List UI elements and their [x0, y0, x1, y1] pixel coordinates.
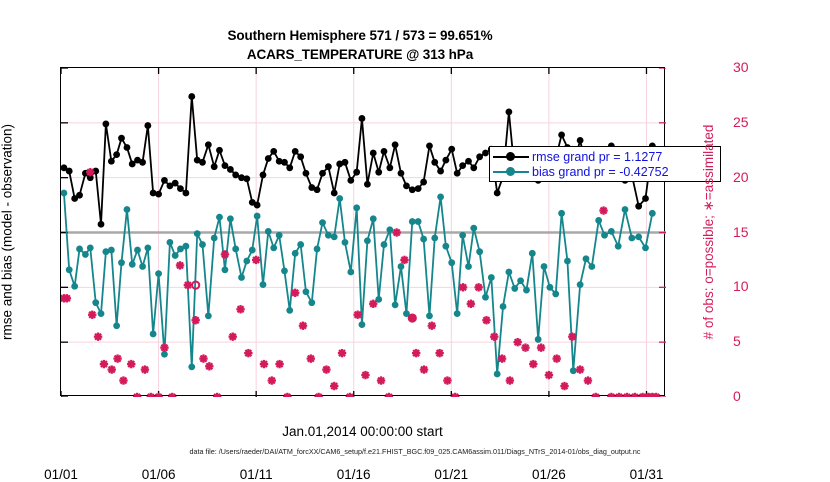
plot-area: 3 2 1 0 -1 -2 -3 30 25 20 15 10 5 0 01/0… [60, 67, 665, 396]
y-tick-right-0: 0 [733, 388, 773, 404]
y-axis-label-right: # of obs: o=possible; ∗=assimilated [700, 67, 718, 396]
chart-title-line2: ACARS_TEMPERATURE @ 313 hPa [0, 45, 720, 64]
legend-item-rmse[interactable]: rmse grand pr = 1.1277 [493, 149, 717, 164]
y-tick-right-15: 15 [733, 224, 773, 240]
x-axis-label: Jan.01,2014 00:00:00 start [60, 424, 665, 439]
x-tick-0121: 01/21 [411, 467, 491, 482]
y-axis-label-left-text: rmse and bias (model - observation) [0, 123, 15, 339]
y-axis-label-right-text: # of obs: o=possible; ∗=assimilated [701, 124, 717, 339]
y-tick-right-10: 10 [733, 278, 773, 294]
chart-svg [61, 68, 666, 397]
y-axis-label-left: rmse and bias (model - observation) [0, 67, 16, 396]
legend-label-bias: bias grand pr = -0.42752 [532, 165, 669, 179]
y-tick-right-5: 5 [733, 333, 773, 349]
plot-canvas [61, 68, 664, 395]
legend-item-bias[interactable]: bias grand pr = -0.42752 [493, 164, 717, 179]
chart-legend: rmse grand pr = 1.1277 bias grand pr = -… [489, 146, 721, 182]
x-tick-0101: 01/01 [21, 467, 101, 482]
x-tick-0116: 01/16 [314, 467, 394, 482]
chart-title-block: Southern Hemisphere 571 / 573 = 99.651% … [0, 26, 720, 64]
x-tick-0126: 01/26 [509, 467, 589, 482]
chart-title-line1: Southern Hemisphere 571 / 573 = 99.651% [0, 26, 720, 45]
y-tick-right-20: 20 [733, 169, 773, 185]
y-tick-right-25: 25 [733, 114, 773, 130]
data-file-footer: data file: /Users/raeder/DAI/ATM_forcXX/… [0, 447, 830, 456]
x-tick-0106: 01/06 [119, 467, 199, 482]
legend-label-rmse: rmse grand pr = 1.1277 [532, 150, 662, 164]
x-tick-0111: 01/11 [216, 467, 296, 482]
y-tick-right-30: 30 [733, 59, 773, 75]
legend-swatch-bias [493, 171, 529, 173]
legend-swatch-rmse [493, 156, 529, 158]
x-tick-0131: 01/31 [607, 467, 687, 482]
